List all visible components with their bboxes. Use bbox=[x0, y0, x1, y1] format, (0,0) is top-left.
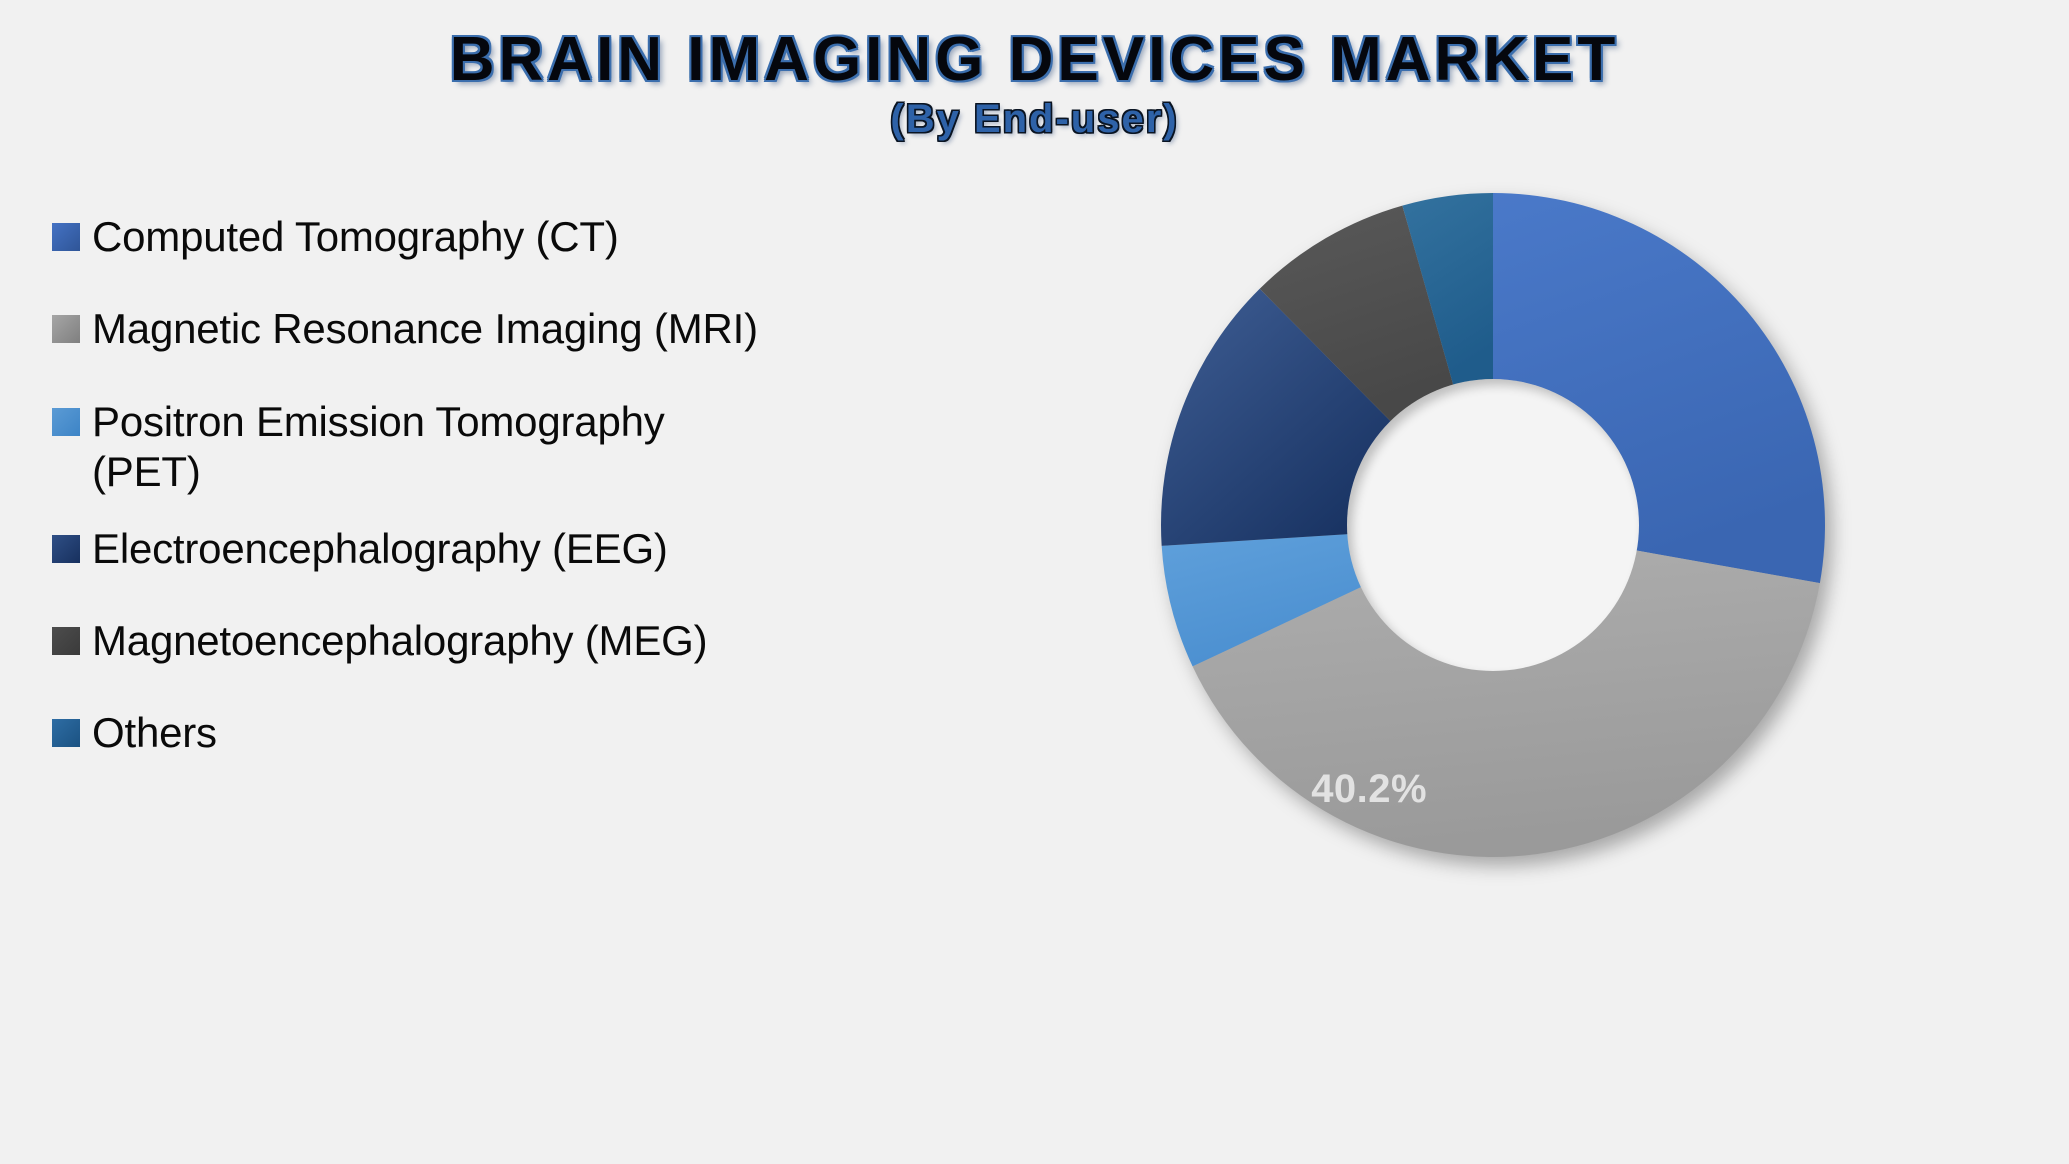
legend-swatch-icon bbox=[52, 408, 80, 436]
legend-swatch-icon bbox=[52, 719, 80, 747]
legend-swatch-icon bbox=[52, 223, 80, 251]
legend-item[interactable]: Magnetoencephalography (MEG) bbox=[52, 616, 952, 666]
page-title: BRAIN IMAGING DEVICES MARKET bbox=[0, 28, 2069, 91]
slice-label-mri: 40.2% bbox=[1311, 767, 1427, 812]
legend-item-label: Magnetic Resonance Imaging (MRI) bbox=[92, 304, 758, 354]
legend-swatch-icon bbox=[52, 315, 80, 343]
legend-item[interactable]: Positron Emission Tomography (PET) bbox=[52, 397, 952, 498]
legend-item[interactable]: Magnetic Resonance Imaging (MRI) bbox=[52, 304, 952, 354]
chart-header: BRAIN IMAGING DEVICES MARKET (By End-use… bbox=[0, 28, 2069, 142]
legend-item-label: Electroencephalography (EEG) bbox=[92, 524, 668, 574]
chart-legend: Computed Tomography (CT)Magnetic Resonan… bbox=[52, 212, 952, 801]
legend-item-label: Positron Emission Tomography (PET) bbox=[92, 397, 665, 498]
page-subtitle: (By End-user) bbox=[0, 97, 2069, 142]
legend-item[interactable]: Electroencephalography (EEG) bbox=[52, 524, 952, 574]
legend-swatch-icon bbox=[52, 627, 80, 655]
legend-item-label: Others bbox=[92, 708, 217, 758]
legend-swatch-icon bbox=[52, 535, 80, 563]
legend-item-label: Magnetoencephalography (MEG) bbox=[92, 616, 707, 666]
chart-page: BRAIN IMAGING DEVICES MARKET (By End-use… bbox=[0, 0, 2069, 1164]
legend-item[interactable]: Computed Tomography (CT) bbox=[52, 212, 952, 262]
donut-center-hole bbox=[1347, 379, 1639, 671]
legend-item[interactable]: Others bbox=[52, 708, 952, 758]
donut-chart: 40.2% bbox=[1153, 185, 1833, 865]
legend-item-label: Computed Tomography (CT) bbox=[92, 212, 619, 262]
